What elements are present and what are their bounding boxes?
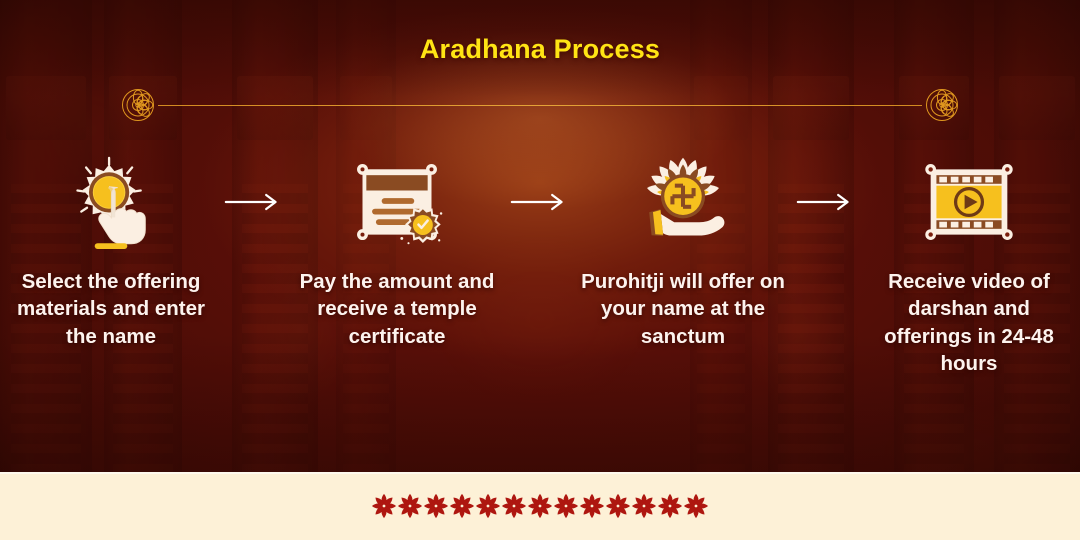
flower-motif-icon <box>397 493 423 519</box>
flower-motif-icon <box>657 493 683 519</box>
process-step-1-label: Select the offering materials and enter … <box>0 268 222 350</box>
flower-motif-icon <box>631 493 657 519</box>
mandala-medallion-icon <box>118 85 158 125</box>
certificate-seal-icon <box>347 150 447 254</box>
mandala-medallion-icon <box>922 85 962 125</box>
decorative-divider <box>118 104 962 106</box>
flower-motif-icon <box>683 493 709 519</box>
video-film-play-icon <box>919 150 1019 254</box>
flower-motif-icon <box>449 493 475 519</box>
flower-motif-icon <box>579 493 605 519</box>
flower-motif-icon <box>605 493 631 519</box>
hand-offering-swastika-lotus-icon <box>633 150 733 254</box>
page-title: Aradhana Process <box>0 34 1080 65</box>
process-steps: Select the offering materials and enter … <box>0 150 1080 378</box>
process-step-2-label: Pay the amount and receive a temple cert… <box>286 268 508 350</box>
flower-motif-icon <box>371 493 397 519</box>
process-step-4-label: Receive video of darshan and offerings i… <box>858 268 1080 378</box>
flower-motif-icon <box>423 493 449 519</box>
process-step-3[interactable]: Purohitji will offer on your name at the… <box>572 150 794 350</box>
flower-motif-icon <box>475 493 501 519</box>
footer-band <box>0 472 1080 540</box>
arrow-right-icon <box>508 150 572 254</box>
arrow-right-icon <box>222 150 286 254</box>
flower-motif-icon <box>527 493 553 519</box>
divider-rule <box>158 105 922 106</box>
infographic-canvas: Aradhana Process <box>0 0 1080 540</box>
process-step-2[interactable]: Pay the amount and receive a temple cert… <box>286 150 508 350</box>
flower-motif-icon <box>501 493 527 519</box>
flower-motif-icon <box>553 493 579 519</box>
process-step-3-label: Purohitji will offer on your name at the… <box>572 268 794 350</box>
footer-ornament-row <box>371 493 709 519</box>
arrow-right-icon <box>794 150 858 254</box>
process-step-4[interactable]: Receive video of darshan and offerings i… <box>858 150 1080 378</box>
process-step-1[interactable]: Select the offering materials and enter … <box>0 150 222 350</box>
hand-tap-offering-icon <box>65 150 157 254</box>
